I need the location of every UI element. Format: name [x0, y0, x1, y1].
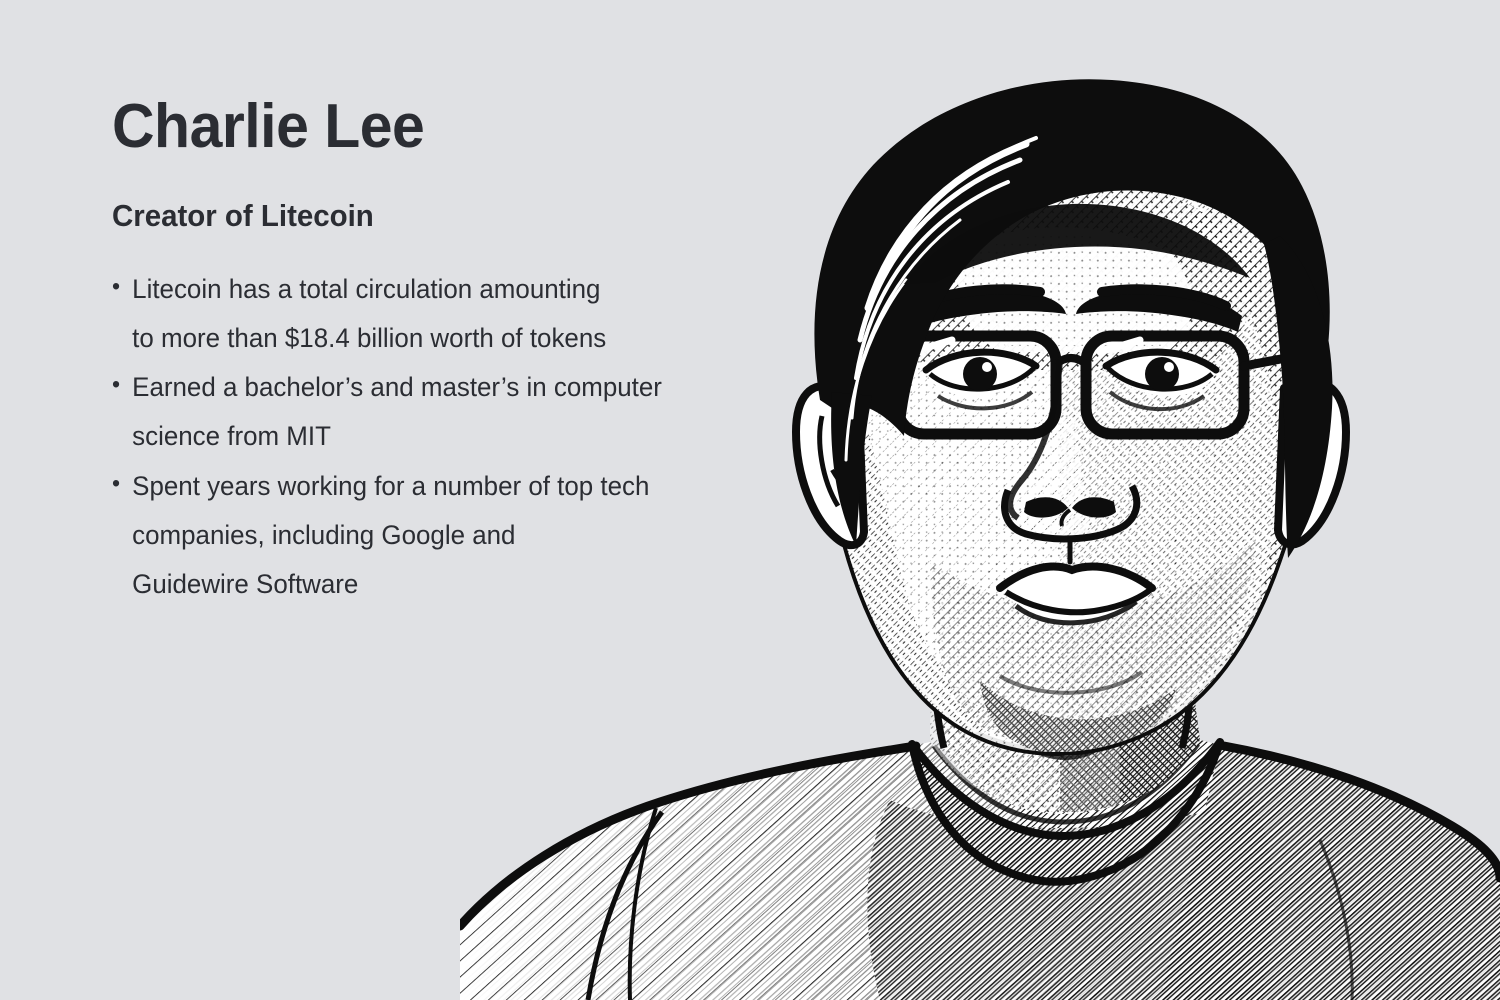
hair	[814, 79, 1332, 558]
glasses	[860, 336, 1326, 434]
page-subtitle: Creator of Litecoin	[112, 200, 737, 231]
eye-left	[926, 352, 1036, 408]
ear-left	[796, 386, 864, 545]
face	[796, 99, 1346, 760]
infographic-card: Charlie Lee Creator of Litecoin Litecoin…	[0, 0, 1500, 1000]
nose	[1005, 360, 1137, 562]
mouth	[1000, 565, 1152, 624]
page-title: Charlie Lee	[112, 96, 737, 158]
shirt	[460, 700, 1500, 1000]
eyebrow-right	[1076, 289, 1242, 332]
list-item: Litecoin has a total circulation amounti…	[112, 265, 744, 363]
fact-list: Litecoin has a total circulation amounti…	[110, 265, 770, 609]
text-column: Charlie Lee Creator of Litecoin Litecoin…	[110, 96, 770, 609]
eye-right	[1106, 352, 1216, 409]
eyebrow-left	[900, 289, 1066, 332]
list-item: Earned a bachelor’s and master’s in comp…	[112, 363, 744, 461]
list-item: Spent years working for a number of top …	[112, 462, 744, 609]
ear-right	[1278, 383, 1346, 544]
neck	[900, 630, 1260, 830]
